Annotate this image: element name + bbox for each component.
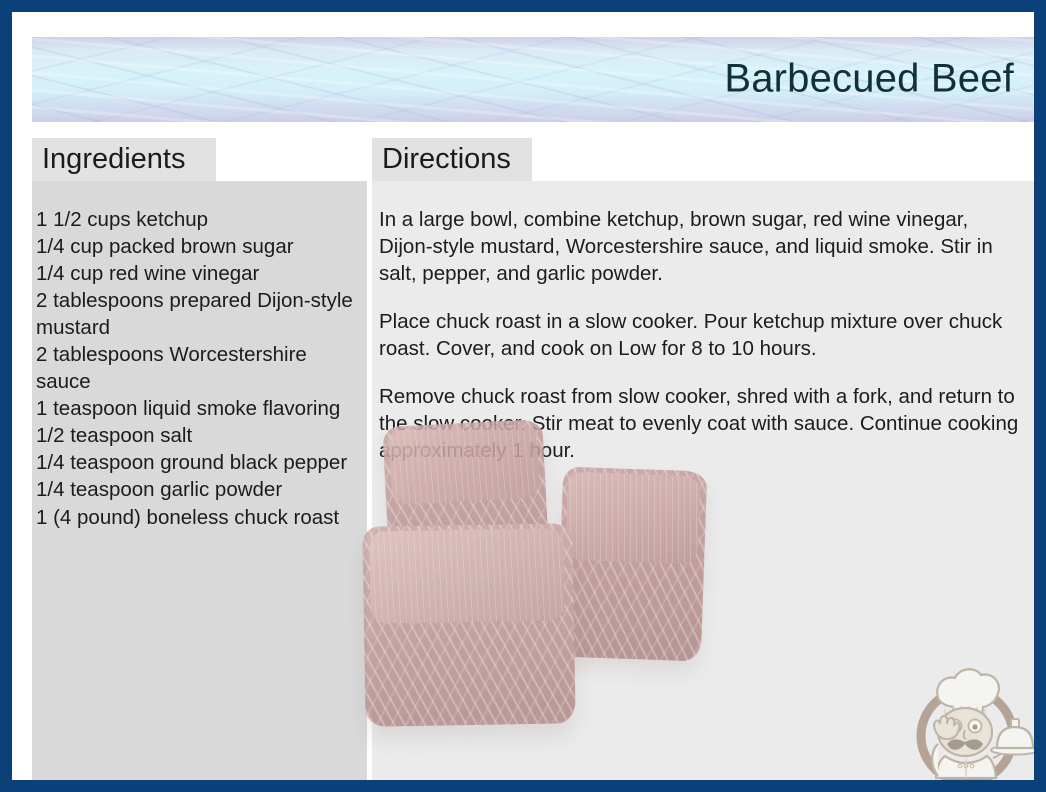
section-tab-directions-label: Directions	[382, 145, 511, 174]
beef-chunk-front	[362, 523, 575, 727]
ingredients-panel-inner: 1 1/2 cups ketchup 1/4 cup packed brown …	[32, 181, 367, 531]
list-item: 1/4 teaspoon ground black pepper	[36, 449, 359, 476]
header-banner: Barbecued Beef	[32, 37, 1038, 122]
direction-step: Place chuck roast in a slow cooker. Pour…	[379, 308, 1020, 362]
list-item: 1/4 cup red wine vinegar	[36, 260, 359, 287]
beef-grain-texture	[369, 528, 565, 623]
ingredients-panel: 1 1/2 cups ketchup 1/4 cup packed brown …	[32, 181, 367, 792]
beef-chunk-top-face	[565, 472, 700, 565]
cloche-handle	[1011, 719, 1019, 727]
list-item: 2 tablespoons Worcestershire sauce	[36, 341, 359, 395]
section-tab-ingredients: Ingredients	[32, 138, 216, 181]
list-item: 1/4 teaspoon garlic powder	[36, 476, 359, 503]
section-tab-directions: Directions	[372, 138, 532, 181]
list-item: 1 (4 pound) boneless chuck roast	[36, 504, 359, 531]
ingredients-list: 1 1/2 cups ketchup 1/4 cup packed brown …	[32, 181, 367, 531]
recipe-title: Barbecued Beef	[724, 56, 1014, 101]
beef-chunk-top-face	[369, 528, 565, 623]
list-item: 1 1/2 cups ketchup	[36, 206, 359, 233]
chef-logo-icon	[905, 660, 1037, 792]
chef-pupil-right	[972, 724, 977, 729]
beef-grain-texture	[388, 423, 540, 505]
recipe-slide: Barbecued Beef Ingredients 1 1/2 cups ke…	[0, 0, 1046, 792]
list-item: 1/2 teaspoon salt	[36, 422, 359, 449]
list-item: 1 teaspoon liquid smoke flavoring	[36, 395, 359, 422]
chef-logo-watermark	[905, 660, 1037, 792]
direction-step: In a large bowl, combine ketchup, brown …	[379, 206, 1020, 287]
list-item: 2 tablespoons prepared Dijon-style musta…	[36, 287, 359, 341]
beef-chunk-right	[557, 467, 708, 662]
beef-grain-texture	[565, 472, 700, 565]
list-item: 1/4 cup packed brown sugar	[36, 233, 359, 260]
beef-chunks-photo	[364, 417, 709, 742]
cloche-dome-icon	[997, 727, 1033, 748]
section-tab-ingredients-label: Ingredients	[42, 145, 186, 174]
beef-chunk-top-face	[388, 423, 540, 505]
